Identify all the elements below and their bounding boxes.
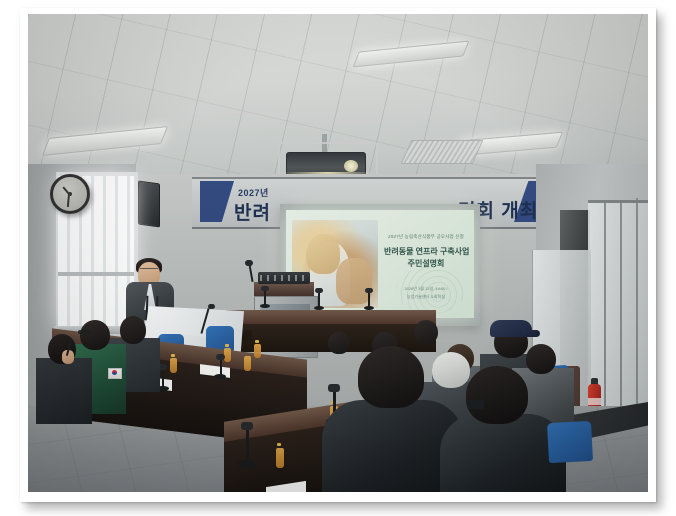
foreground-attendee-head — [466, 366, 528, 424]
attendee-head — [328, 332, 350, 354]
clock-center — [68, 192, 72, 196]
cap-brim — [522, 330, 540, 337]
bottle-cap — [255, 340, 259, 343]
attendee-glasses — [78, 330, 90, 334]
banner-left-text: 반려 — [234, 198, 271, 225]
attendee-body — [36, 358, 92, 424]
microphone-stem — [318, 292, 320, 308]
beverage-bottle — [244, 356, 251, 371]
wall-speaker-icon — [138, 180, 160, 227]
microphone-icon — [328, 384, 340, 392]
extinguisher-label — [588, 398, 601, 405]
attendee-white-hair-head — [432, 352, 470, 388]
slide-title-line2: 주민설명회 — [384, 258, 468, 269]
microphone-icon — [315, 288, 323, 293]
partition-mullion — [620, 200, 622, 432]
microphone-icon — [208, 304, 215, 309]
window-frame — [58, 272, 134, 276]
microphone-stem — [368, 292, 370, 308]
microphone-stem — [264, 290, 266, 306]
photo-frame: 2027년 반려 명회 개최 2027년 농림축산식품부 공모사업 — [20, 8, 656, 502]
slide-subtitle: 2027년 농림축산식품부 공모사업 신청 — [384, 234, 468, 240]
far-table-top — [226, 310, 436, 324]
partition-mullion — [604, 202, 606, 432]
microphone-icon — [245, 260, 253, 266]
ceiling-air-vent — [401, 140, 484, 164]
attendee-head — [80, 320, 110, 350]
microphone-icon — [216, 354, 225, 360]
bottle-cap — [225, 344, 229, 347]
microphone-icon — [365, 288, 373, 293]
projector-lens-icon — [344, 160, 358, 172]
beverage-bottle — [224, 348, 231, 362]
beverage-bottle — [276, 448, 284, 468]
photograph: 2027년 반려 명회 개최 2027년 농림축산식품부 공모사업 — [28, 14, 648, 492]
bottle-cap — [171, 354, 175, 357]
bottle-cap — [277, 443, 281, 446]
mixer-knobs — [260, 275, 308, 281]
partition-mullion — [636, 198, 638, 432]
microphone-stem — [220, 358, 222, 376]
microphone-stem — [162, 368, 164, 388]
microphone-icon — [261, 286, 269, 291]
attendee-head — [120, 316, 146, 344]
slide-person-hair — [306, 234, 340, 274]
slide-dog-figure — [336, 258, 372, 304]
slide-meta-line1: 2026년 3월 13일, 14:00 / — [384, 286, 468, 292]
chair — [547, 421, 593, 463]
partition-top-rail — [588, 200, 648, 203]
flag-taegeuk-icon — [112, 370, 117, 375]
slide-meta-line2: 농업기술센터 소회의실 — [384, 294, 468, 300]
attendee-glasses — [468, 400, 484, 409]
attendee-head — [526, 344, 556, 374]
attendee-head — [414, 320, 438, 344]
wall-clock-icon — [50, 174, 90, 214]
beverage-bottle — [254, 344, 261, 358]
slide-title-line1: 반려동물 연프라 구축사업 — [384, 246, 468, 257]
microphone-icon — [241, 422, 253, 430]
foreground-attendee-head — [358, 346, 424, 408]
beverage-bottle — [170, 358, 177, 373]
presenter-glasses — [140, 268, 158, 273]
microphone-stem — [246, 428, 249, 462]
